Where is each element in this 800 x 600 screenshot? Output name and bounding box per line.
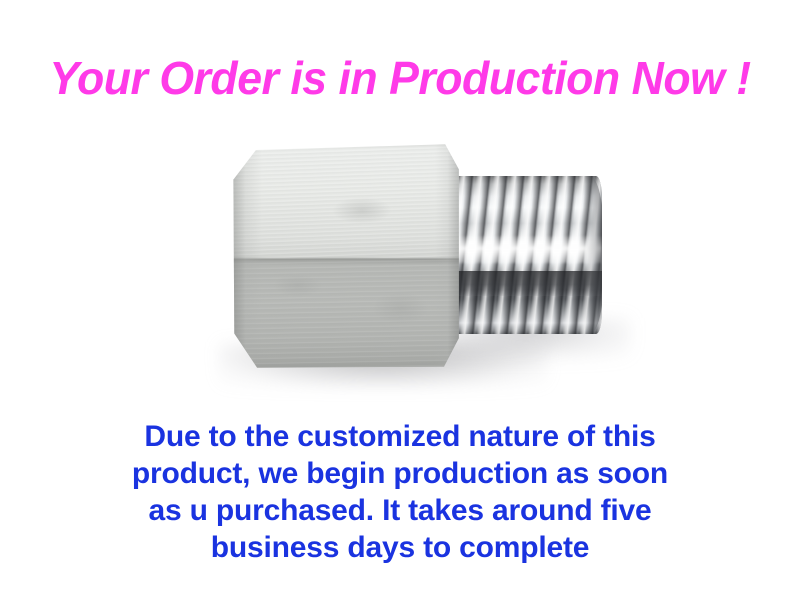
notice-line: business days to complete [80,529,720,566]
notice-line: product, we begin production as soon [80,455,720,492]
hex-body [232,142,460,370]
product-image [170,110,650,410]
hex-right-chamfer [435,142,460,370]
page-title: Your Order is in Production Now ! [12,50,788,106]
notice-line: Due to the customized nature of this [80,418,720,455]
hex-surface-blemish [332,197,391,224]
hex-surface-blemish [273,274,323,297]
production-notice: Due to the customized nature of this pro… [80,418,720,566]
thread-shadow-band [442,271,602,296]
thread-end-cap [584,176,602,334]
notice-line: as u purchased. It takes around five [80,492,720,529]
threaded-shank [442,176,602,334]
promo-banner: Your Order is in Production Now ! Due to… [0,0,800,600]
thread-highlight-band [442,236,602,263]
hex-surface-blemish [373,292,428,324]
hex-left-chamfer [232,142,262,370]
